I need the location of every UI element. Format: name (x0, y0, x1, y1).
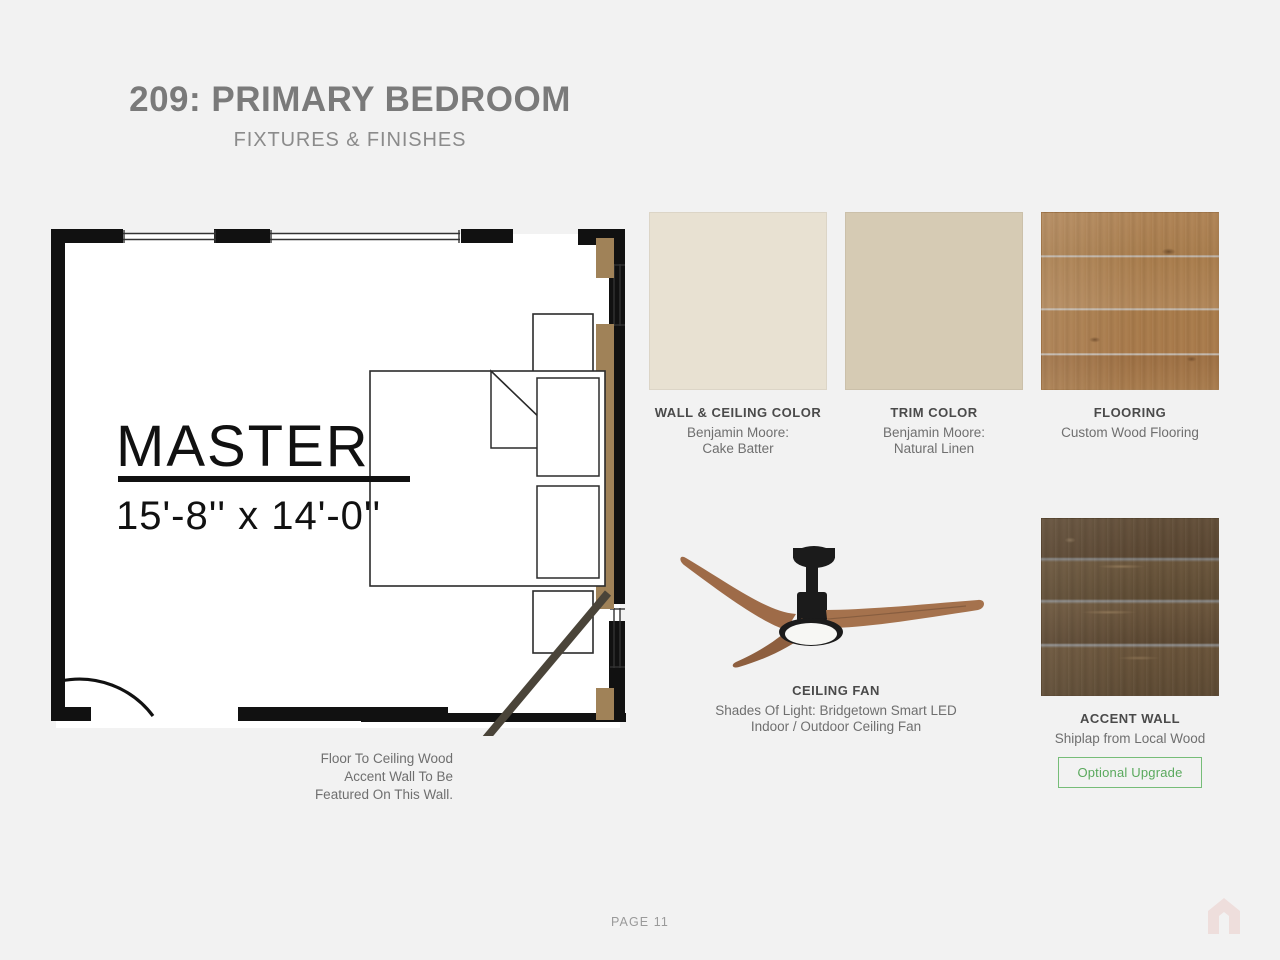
wall-ceiling-color-title: WALL & CEILING COLOR (640, 405, 836, 420)
ceiling-fan-image (676, 518, 996, 668)
trim-color-title: TRIM COLOR (836, 405, 1032, 420)
ceiling-fan-title: CEILING FAN (640, 683, 1032, 698)
trim-color-desc-line1: Benjamin Moore: (836, 425, 1032, 441)
page-header: 209: PRIMARY BEDROOM FIXTURES & FINISHES (0, 82, 700, 152)
fan-blade-left (680, 557, 796, 630)
fan-canopy-base (793, 548, 835, 558)
flooring-swatch (1041, 212, 1219, 390)
accent-wall-desc-line1: Shiplap from Local Wood (1032, 731, 1228, 747)
accent-wall-desc: Shiplap from Local Wood (1032, 731, 1228, 747)
wall-ceiling-color-swatch (649, 212, 827, 390)
fan-light-lens (785, 623, 837, 645)
trim-color-desc: Benjamin Moore: Natural Linen (836, 425, 1032, 458)
page-subtitle: FIXTURES & FINISHES (0, 129, 700, 152)
accent-wall-title: ACCENT WALL (1032, 711, 1228, 726)
wall-ceiling-color-desc-line1: Benjamin Moore: (640, 425, 836, 441)
pillow-upper (537, 378, 599, 476)
flooring-title: FLOORING (1032, 405, 1228, 420)
fan-downrod (806, 564, 818, 594)
finish-card-flooring[interactable]: FLOORING Custom Wood Flooring (1032, 212, 1228, 441)
finishes-grid: WALL & CEILING COLOR Benjamin Moore: Cak… (640, 212, 1248, 788)
room-dimensions: 15'-8'' x 14'-0'' (116, 494, 381, 538)
finish-card-ceiling-fan[interactable]: CEILING FAN Shades Of Light: Bridgetown … (640, 518, 1032, 736)
accent-wall-highlight-top (596, 238, 614, 278)
brand-logo-icon (1202, 894, 1246, 938)
flooring-desc-line1: Custom Wood Flooring (1032, 425, 1228, 441)
accent-wall-callout: Floor To Ceiling Wood Accent Wall To Be … (268, 750, 453, 805)
wall-top-mid-segment (214, 229, 270, 243)
finish-card-trim-color[interactable]: TRIM COLOR Benjamin Moore: Natural Linen (836, 212, 1032, 458)
accent-wall-highlight-bottom (596, 688, 614, 720)
floor-plan-drawing: MASTER 15'-8'' x 14'-0'' (48, 226, 628, 736)
pillow-lower (537, 486, 599, 578)
accent-wall-swatch (1041, 518, 1219, 696)
flooring-desc: Custom Wood Flooring (1032, 425, 1228, 441)
callout-line-1: Floor To Ceiling Wood (268, 750, 453, 768)
wall-bottom-left-segment (51, 707, 91, 721)
nightstand-upper (533, 314, 593, 376)
trim-color-swatch (845, 212, 1023, 390)
page-title: 209: PRIMARY BEDROOM (0, 82, 700, 119)
ceiling-fan-desc-line2: Indoor / Outdoor Ceiling Fan (640, 719, 1032, 735)
page-number: PAGE 11 (0, 915, 1280, 929)
wall-ceiling-color-desc-line2: Cake Batter (640, 441, 836, 457)
finish-card-wall-ceiling-color[interactable]: WALL & CEILING COLOR Benjamin Moore: Cak… (640, 212, 836, 458)
fan-blade-right (826, 600, 984, 628)
ceiling-fan-desc: Shades Of Light: Bridgetown Smart LED In… (640, 703, 1032, 736)
callout-line-2: Accent Wall To Be (268, 768, 453, 786)
wall-left (51, 229, 65, 721)
fan-motor-housing (797, 592, 827, 622)
ceiling-fan-illustration (676, 518, 996, 668)
callout-line-3: Featured On This Wall. (268, 786, 453, 804)
ceiling-fan-desc-line1: Shades Of Light: Bridgetown Smart LED (640, 703, 1032, 719)
room-label: MASTER (116, 414, 370, 479)
finish-card-accent-wall[interactable]: ACCENT WALL Shiplap from Local Wood Opti… (1032, 518, 1228, 788)
finishes-row-top: WALL & CEILING COLOR Benjamin Moore: Cak… (640, 212, 1248, 458)
floor-plan: MASTER 15'-8'' x 14'-0'' (48, 226, 628, 736)
finishes-row-bottom: CEILING FAN Shades Of Light: Bridgetown … (640, 518, 1248, 788)
wall-bottom-right-segment (361, 713, 626, 722)
optional-upgrade-badge[interactable]: Optional Upgrade (1058, 757, 1201, 788)
wall-ceiling-color-desc: Benjamin Moore: Cake Batter (640, 425, 836, 458)
wall-top-left-segment (51, 229, 123, 243)
trim-color-desc-line2: Natural Linen (836, 441, 1032, 457)
wall-top-right-segment (461, 229, 513, 243)
house-icon-shape (1208, 898, 1240, 934)
